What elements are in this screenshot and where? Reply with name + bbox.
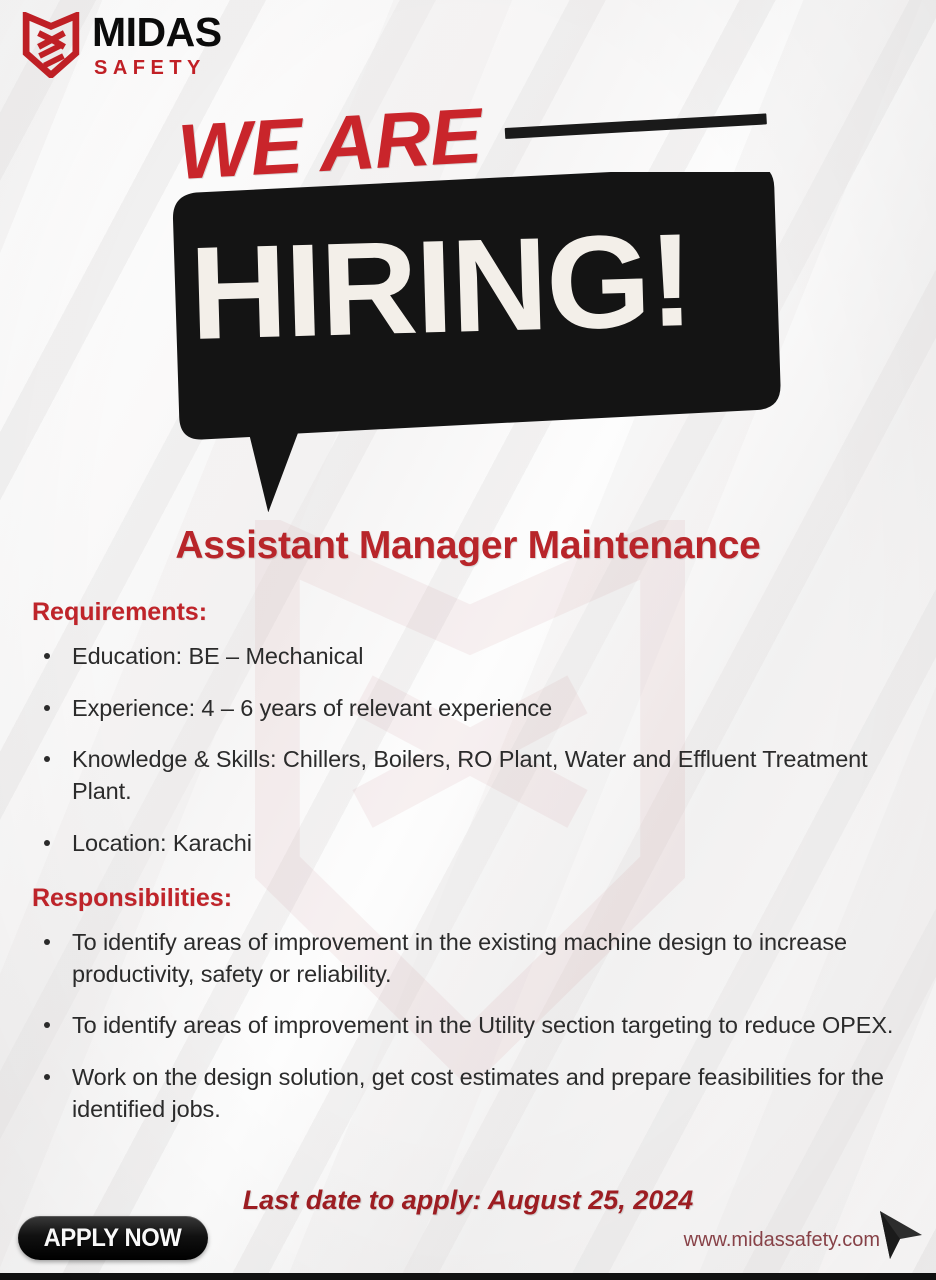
responsibilities-list: To identify areas of improvement in the … <box>28 927 902 1126</box>
list-item: To identify areas of improvement in the … <box>28 927 902 990</box>
section-requirements: Requirements: Education: BE – Mechanical… <box>28 598 902 880</box>
brand-logo: MIDAS SAFETY <box>22 12 222 78</box>
shield-chevron-icon <box>22 12 80 78</box>
apply-now-button[interactable]: APPLY NOW <box>18 1216 208 1260</box>
list-item: Work on the design solution, get cost es… <box>28 1062 902 1125</box>
section-responsibilities: Responsibilities: To identify areas of i… <box>28 884 902 1146</box>
section-heading-requirements: Requirements: <box>32 598 902 627</box>
apply-now-label: APPLY NOW <box>44 1224 182 1253</box>
section-heading-responsibilities: Responsibilities: <box>32 884 902 913</box>
job-poster: MIDAS SAFETY WE ARE HIRING! Assistant Ma… <box>0 0 936 1280</box>
logo-wordmark: MIDAS SAFETY <box>92 12 222 78</box>
cursor-arrow-icon <box>872 1205 928 1267</box>
logo-name-primary: MIDAS <box>92 12 222 53</box>
logo-name-secondary: SAFETY <box>94 58 222 78</box>
requirements-list: Education: BE – Mechanical Experience: 4… <box>28 641 902 860</box>
list-item: Location: Karachi <box>28 828 902 860</box>
bottom-bar <box>0 1273 936 1280</box>
website-url[interactable]: www.midassafety.com <box>684 1229 880 1252</box>
page-title: Assistant Manager Maintenance <box>0 524 936 568</box>
list-item: Education: BE – Mechanical <box>28 641 902 673</box>
list-item: Knowledge & Skills: Chillers, Boilers, R… <box>28 744 902 807</box>
application-deadline: Last date to apply: August 25, 2024 <box>0 1185 936 1216</box>
list-item: To identify areas of improvement in the … <box>28 1010 902 1042</box>
hero-headline: HIRING! <box>188 212 773 360</box>
list-item: Experience: 4 – 6 years of relevant expe… <box>28 693 902 725</box>
